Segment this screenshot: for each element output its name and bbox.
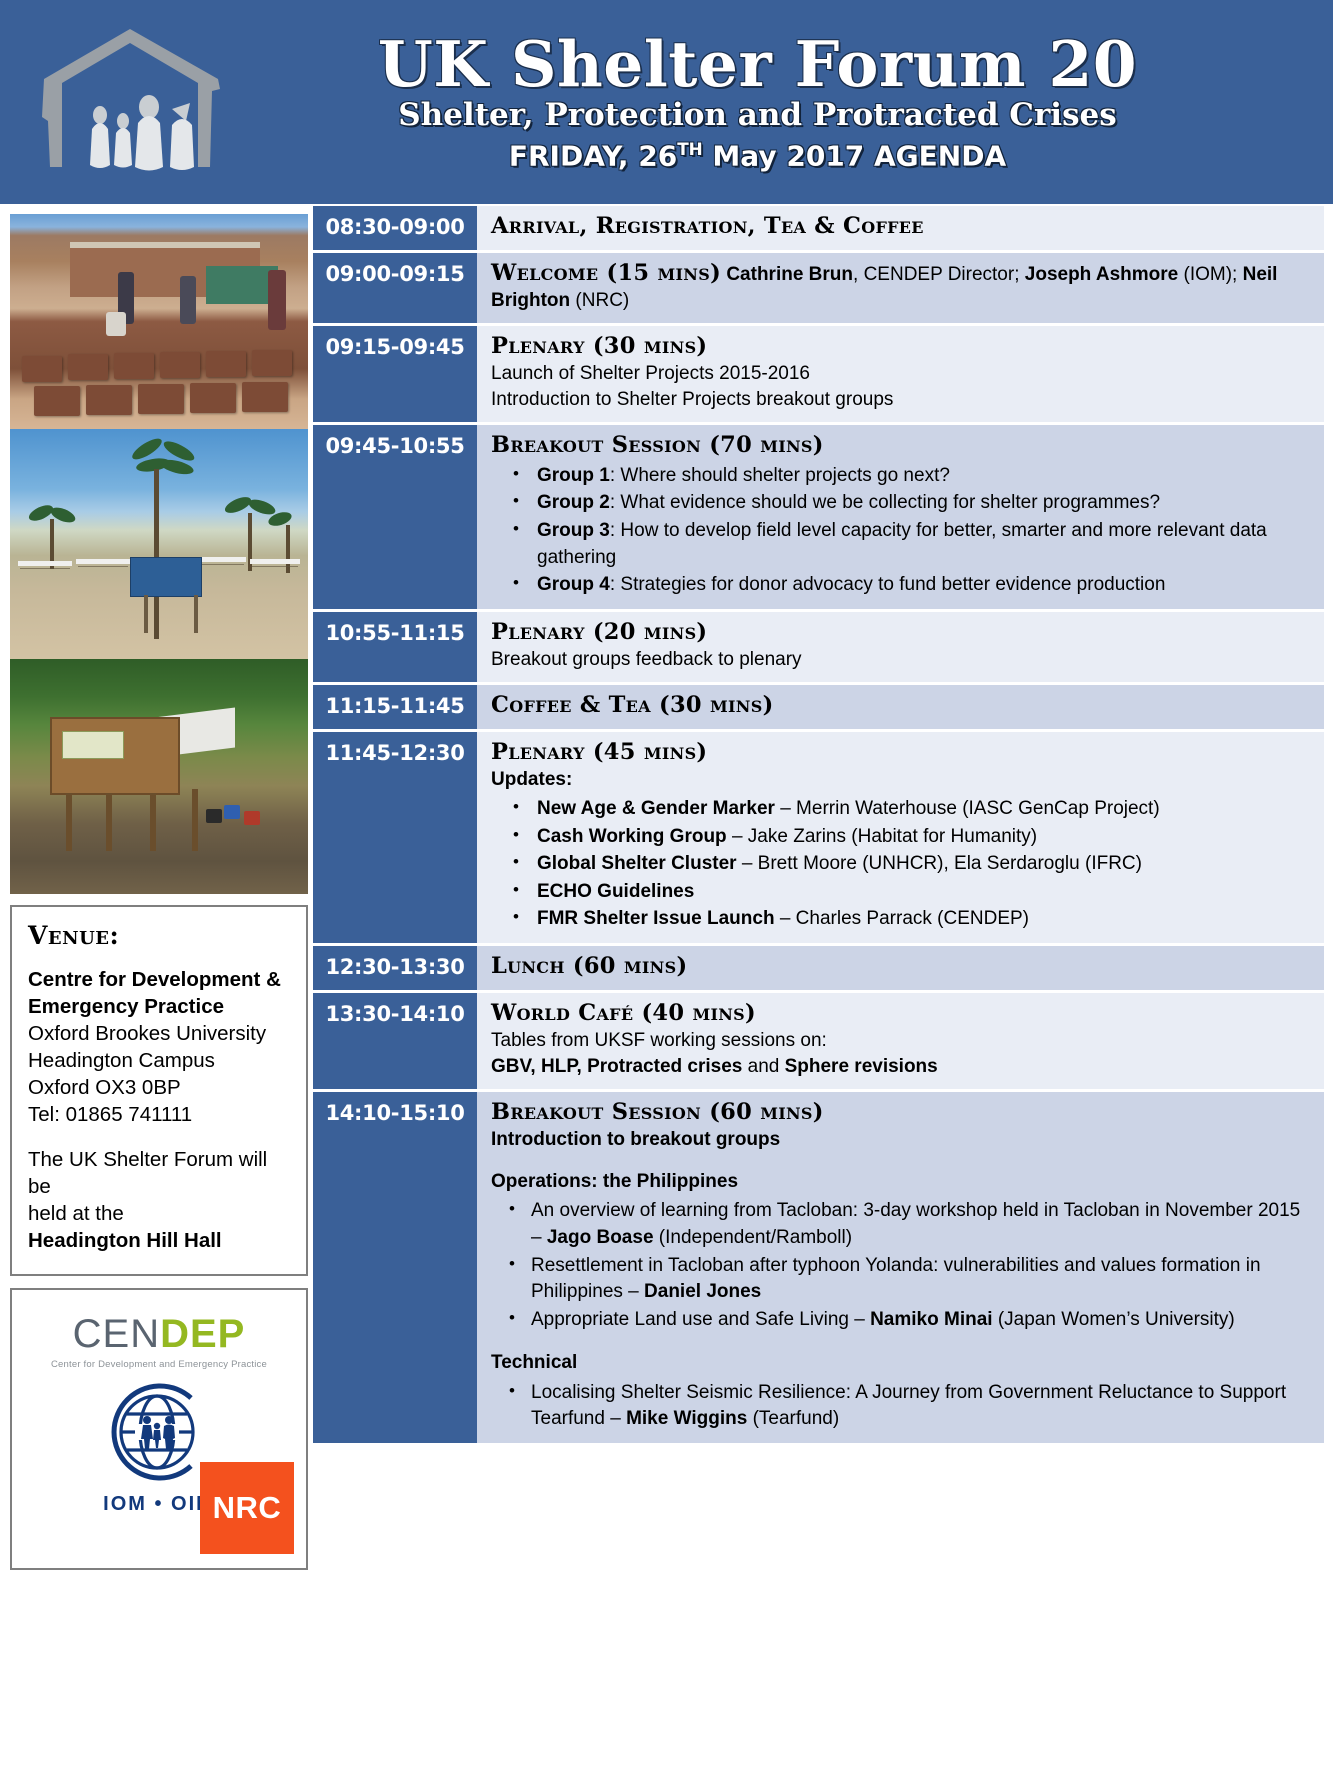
venue-org-line2: Emergency Practice — [28, 993, 290, 1020]
list-item: New Age & Gender Marker – Merrin Waterho… — [491, 796, 1310, 823]
agenda-heading: Lunch (60 mins) — [491, 953, 1310, 981]
list-item: Group 2: What evidence should we be coll… — [491, 490, 1310, 517]
date-suffix: May 2017 AGENDA — [703, 139, 1006, 172]
agenda-heading: Plenary (45 mins) — [491, 739, 1310, 767]
group-text: : Strategies for donor advocacy to fund … — [610, 574, 1166, 595]
header-text-block: UK Shelter Forum 20 Shelter, Protection … — [252, 32, 1333, 172]
agenda-body: Plenary (20 mins) Breakout groups feedba… — [477, 612, 1324, 682]
agenda-section-title-technical: Technical — [491, 1350, 1310, 1376]
agenda-bullet-list: Group 1: Where should shelter projects g… — [491, 463, 1310, 599]
agenda-time: 09:00-09:15 — [313, 253, 477, 323]
page-title: UK Shelter Forum 20 — [252, 32, 1263, 96]
agenda-row-plenary-20: 10:55-11:15 Plenary (20 mins) Breakout g… — [313, 612, 1324, 682]
agenda-row-world-cafe: 13:30-14:10 World Café (40 mins) Tables … — [313, 993, 1324, 1089]
list-item: Appropriate Land use and Safe Living – N… — [491, 1307, 1310, 1334]
agenda-welcome-line: Welcome (15 mins) Cathrine Brun, CENDEP … — [491, 260, 1310, 314]
date-ordinal: TH — [677, 139, 703, 159]
page-date: FRIDAY, 26TH May 2017 AGENDA — [252, 140, 1263, 172]
topics-bold-1: GBV, HLP, Protracted crises — [491, 1056, 742, 1077]
update-label: New Age & Gender Marker — [537, 798, 775, 819]
update-label: Global Shelter Cluster — [537, 853, 737, 874]
agenda-heading: Arrival, Registration, Tea & Coffee — [491, 213, 1310, 241]
cendep-logo: CENDEP Center for Development and Emerge… — [22, 1314, 296, 1370]
agenda-time: 14:10-15:10 — [313, 1092, 477, 1443]
cendep-dep: DEP — [160, 1312, 245, 1356]
agenda-heading: Breakout Session (70 mins) — [491, 432, 1310, 460]
list-item: Global Shelter Cluster – Brett Moore (UN… — [491, 851, 1310, 878]
update-text: – Jake Zarins (Habitat for Humanity) — [727, 826, 1037, 847]
list-item: Resettlement in Tacloban after typhoon Y… — [491, 1253, 1310, 1306]
agenda-line: Introduction to Shelter Projects breakou… — [491, 387, 1310, 413]
group-text: : What evidence should we be collecting … — [610, 492, 1160, 513]
agenda-row-plenary-45: 11:45-12:30 Plenary (45 mins) Updates: N… — [313, 732, 1324, 943]
speaker-joseph-ashmore: Joseph Ashmore — [1025, 264, 1178, 285]
agenda-body: Arrival, Registration, Tea & Coffee — [477, 206, 1324, 250]
welcome-text-2: (IOM); — [1178, 264, 1242, 285]
group-text: : Where should shelter projects go next? — [610, 465, 950, 486]
agenda-body: Plenary (45 mins) Updates: New Age & Gen… — [477, 732, 1324, 943]
list-item: Localising Shelter Seismic Resilience: A… — [491, 1380, 1310, 1433]
group-label: Group 2 — [537, 492, 610, 513]
list-item: Group 4: Strategies for donor advocacy t… — [491, 572, 1310, 599]
venue-telephone: Tel: 01865 741111 — [28, 1101, 290, 1128]
agenda-heading: World Café (40 mins) — [491, 1000, 1310, 1028]
speaker-name: Daniel Jones — [644, 1281, 761, 1302]
venue-university: Oxford Brookes University — [28, 1020, 290, 1047]
update-text: – Brett Moore (UNHCR), Ela Serdaroglu (I… — [737, 853, 1142, 874]
list-item: Group 3: How to develop field level capa… — [491, 518, 1310, 571]
agenda-row-coffee: 11:15-11:45 Coffee & Tea (30 mins) — [313, 685, 1324, 729]
agenda-poster: UK Shelter Forum 20 Shelter, Protection … — [0, 0, 1333, 1777]
cendep-wordmark: CENDEP — [22, 1314, 296, 1354]
agenda-body: Breakout Session (70 mins) Group 1: Wher… — [477, 425, 1324, 609]
agenda-section-title-operations: Operations: the Philippines — [491, 1169, 1310, 1195]
talk-text-post: (Tearfund) — [747, 1408, 839, 1429]
photo-mud-brick-making — [10, 214, 308, 429]
agenda-spacer — [491, 1153, 1310, 1169]
venue-note-line2: held at the — [28, 1200, 290, 1227]
agenda-time: 09:45-10:55 — [313, 425, 477, 609]
list-item: Group 1: Where should shelter projects g… — [491, 463, 1310, 490]
agenda-time: 13:30-14:10 — [313, 993, 477, 1089]
venue-postcode: Oxford OX3 0BP — [28, 1074, 290, 1101]
agenda-time: 12:30-13:30 — [313, 946, 477, 990]
agenda-heading: Coffee & Tea (30 mins) — [491, 692, 1310, 720]
group-label: Group 4 — [537, 574, 610, 595]
partner-logos-box: CENDEP Center for Development and Emerge… — [10, 1288, 308, 1570]
venue-note-line1: The UK Shelter Forum will be — [28, 1146, 290, 1200]
agenda-line: Tables from UKSF working sessions on: — [491, 1028, 1310, 1054]
agenda-row-plenary-30: 09:15-09:45 Plenary (30 mins) Launch of … — [313, 326, 1324, 422]
agenda-time: 09:15-09:45 — [313, 326, 477, 422]
speaker-name: Namiko Minai — [870, 1309, 992, 1330]
list-item: ECHO Guidelines — [491, 879, 1310, 906]
speaker-name: Jago Boase — [547, 1227, 654, 1248]
list-item: FMR Shelter Issue Launch – Charles Parra… — [491, 906, 1310, 933]
agenda-table: 08:30-09:00 Arrival, Registration, Tea &… — [313, 206, 1324, 1446]
agenda-topics-line: GBV, HLP, Protracted crises and Sphere r… — [491, 1054, 1310, 1080]
list-item: An overview of learning from Tacloban: 3… — [491, 1198, 1310, 1251]
agenda-heading: Welcome (15 mins) — [491, 260, 721, 286]
shelter-house-logo — [22, 17, 252, 187]
update-label: ECHO Guidelines — [537, 881, 694, 902]
agenda-row-lunch: 12:30-13:30 Lunch (60 mins) — [313, 946, 1324, 990]
update-text: – Merrin Waterhouse (IASC GenCap Project… — [775, 798, 1160, 819]
agenda-updates-label: Updates: — [491, 767, 1310, 793]
venue-org-line1: Centre for Development & — [28, 966, 290, 993]
group-label: Group 3 — [537, 520, 610, 541]
agenda-body: Lunch (60 mins) — [477, 946, 1324, 990]
topics-bold-2: Sphere revisions — [785, 1056, 938, 1077]
welcome-text-3: (NRC) — [570, 290, 629, 311]
speaker-cathrine-brun: Cathrine Brun — [726, 264, 853, 285]
date-prefix: FRIDAY, 26 — [509, 139, 677, 172]
agenda-heading: Plenary (20 mins) — [491, 619, 1310, 647]
venue-campus: Headington Campus — [28, 1047, 290, 1074]
agenda-row-breakout-60: 14:10-15:10 Breakout Session (60 mins) I… — [313, 1092, 1324, 1443]
page-subtitle: Shelter, Protection and Protracted Crise… — [252, 98, 1263, 132]
agenda-heading: Breakout Session (60 mins) — [491, 1099, 1310, 1127]
agenda-row-breakout-70: 09:45-10:55 Breakout Session (70 mins) G… — [313, 425, 1324, 609]
talk-text-post: (Japan Women’s University) — [993, 1309, 1235, 1330]
agenda-body: Welcome (15 mins) Cathrine Brun, CENDEP … — [477, 253, 1324, 323]
agenda-bullet-list: New Age & Gender Marker – Merrin Waterho… — [491, 796, 1310, 933]
agenda-technical-list: Localising Shelter Seismic Resilience: A… — [491, 1380, 1310, 1433]
agenda-subheading: Introduction to breakout groups — [491, 1127, 1310, 1153]
agenda-time: 11:45-12:30 — [313, 732, 477, 943]
photo-raised-timber-shelter — [10, 659, 308, 894]
agenda-time: 10:55-11:15 — [313, 612, 477, 682]
nrc-label: NRC — [213, 1490, 282, 1526]
agenda-body: Breakout Session (60 mins) Introduction … — [477, 1092, 1324, 1443]
agenda-row-arrival: 08:30-09:00 Arrival, Registration, Tea &… — [313, 206, 1324, 250]
talk-text-post: (Independent/Ramboll) — [654, 1227, 853, 1248]
venue-box: Venue: Centre for Development & Emergenc… — [10, 905, 308, 1276]
agenda-spacer — [491, 1334, 1310, 1350]
topics-connector: and — [742, 1056, 784, 1077]
talk-text-pre: Resettlement in Tacloban after typhoon Y… — [531, 1255, 1261, 1303]
update-label: FMR Shelter Issue Launch — [537, 908, 775, 929]
nrc-logo: NRC — [200, 1462, 294, 1554]
welcome-text-1: , CENDEP Director; — [853, 264, 1025, 285]
list-item: Cash Working Group – Jake Zarins (Habita… — [491, 824, 1310, 851]
photo-shelter-row-palms — [10, 429, 308, 659]
agenda-row-welcome: 09:00-09:15 Welcome (15 mins) Cathrine B… — [313, 253, 1324, 323]
speaker-name: Mike Wiggins — [626, 1408, 747, 1429]
cendep-tagline: Center for Development and Emergency Pra… — [22, 1359, 296, 1370]
update-label: Cash Working Group — [537, 826, 727, 847]
venue-spacer — [28, 1128, 290, 1146]
talk-text-pre: Appropriate Land use and Safe Living – — [531, 1309, 870, 1330]
agenda-line: Launch of Shelter Projects 2015-2016 — [491, 361, 1310, 387]
agenda-time: 11:15-11:45 — [313, 685, 477, 729]
agenda-line: Breakout groups feedback to plenary — [491, 647, 1310, 673]
left-sidebar: Venue: Centre for Development & Emergenc… — [10, 214, 308, 1570]
update-text: – Charles Parrack (CENDEP) — [775, 908, 1029, 929]
group-label: Group 1 — [537, 465, 610, 486]
agenda-heading: Plenary (30 mins) — [491, 333, 1310, 361]
agenda-operations-list: An overview of learning from Tacloban: 3… — [491, 1198, 1310, 1333]
cendep-cen: CEN — [73, 1312, 160, 1356]
agenda-time: 08:30-09:00 — [313, 206, 477, 250]
agenda-body: Plenary (30 mins) Launch of Shelter Proj… — [477, 326, 1324, 422]
group-text: : How to develop field level capacity fo… — [537, 520, 1267, 568]
agenda-body: Coffee & Tea (30 mins) — [477, 685, 1324, 729]
venue-hall: Headington Hill Hall — [28, 1227, 290, 1254]
agenda-body: World Café (40 mins) Tables from UKSF wo… — [477, 993, 1324, 1089]
venue-heading: Venue: — [28, 921, 290, 950]
page-header: UK Shelter Forum 20 Shelter, Protection … — [0, 0, 1333, 204]
